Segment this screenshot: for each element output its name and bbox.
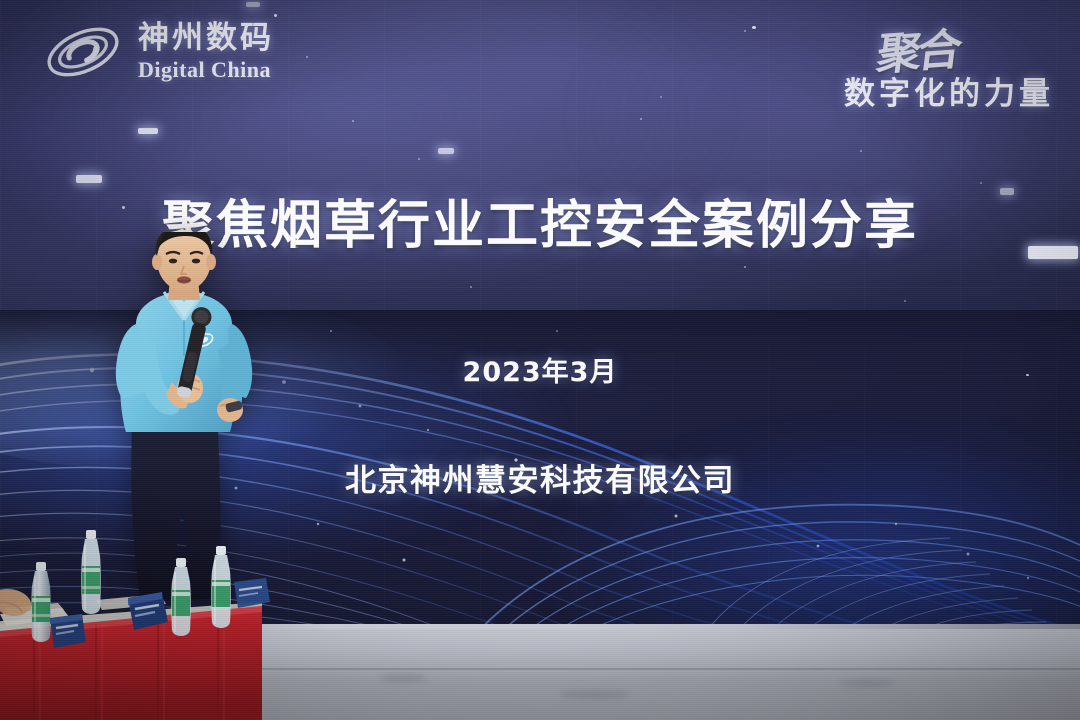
digital-china-wordmark: 神州数码 Digital China [138, 23, 274, 81]
screen-lightbar-b [76, 175, 102, 183]
name-card-3 [232, 576, 272, 612]
conference-stage-photo: 神州数码 Digital China 聚合 数字化的力量 聚焦烟草行业工控安全案… [0, 0, 1080, 720]
floor-scuff-a [380, 674, 426, 682]
water-bottle-2 [74, 530, 108, 620]
name-card-2 [126, 590, 170, 634]
name-card-1 [48, 612, 88, 652]
floor-scuff-c [840, 680, 894, 687]
brand-logo-digital-china: 神州数码 Digital China [42, 18, 274, 86]
screen-lightbar-f [246, 2, 260, 7]
event-logo-juhe: 聚合 数字化的力量 [844, 16, 1054, 113]
screen-lightbar-c [438, 148, 454, 154]
floor-scuff-b [560, 690, 630, 699]
screen-lightbar-a [138, 128, 158, 134]
brand-name-en: Digital China [138, 59, 274, 81]
brand-name-cn: 神州数码 [138, 23, 274, 54]
digital-china-swirl-icon [42, 18, 124, 86]
event-logo-calligraphy: 聚合 [874, 13, 963, 82]
